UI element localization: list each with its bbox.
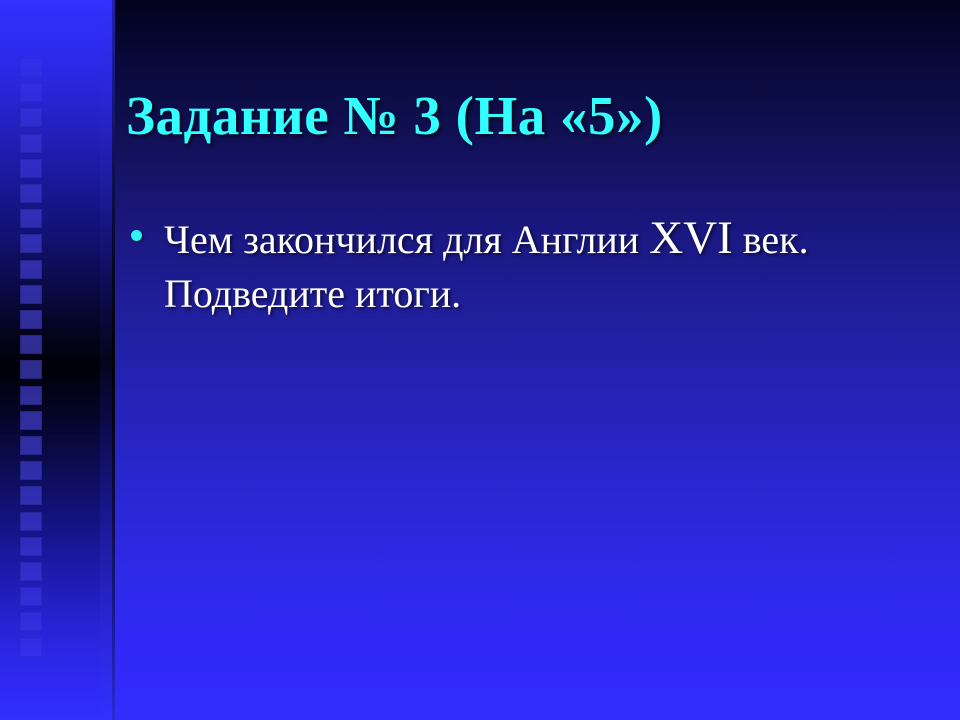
sidebar-square	[20, 285, 42, 304]
sidebar-square	[20, 612, 42, 631]
sidebar-square	[20, 234, 42, 253]
bullet-text-roman-numeral: XVI	[649, 212, 733, 264]
sidebar-square	[20, 562, 42, 581]
sidebar-square	[20, 411, 42, 430]
sidebar-square	[20, 360, 42, 379]
list-item: Чем закончился для Англии XVI век. Подве…	[126, 208, 916, 319]
sidebar-square	[20, 638, 42, 657]
bullet-point-icon	[131, 230, 142, 241]
sidebar-square	[20, 184, 42, 203]
sidebar-square	[20, 512, 42, 531]
sidebar-square	[20, 83, 42, 102]
sidebar-square	[20, 436, 42, 455]
sidebar-square	[20, 159, 42, 178]
sidebar-decoration	[0, 0, 115, 720]
sidebar-square	[20, 461, 42, 480]
sidebar-square	[20, 58, 42, 77]
sidebar-square	[20, 209, 42, 228]
bullet-text-segment-1: Чем закончился для Англии	[164, 217, 649, 262]
sidebar-square	[20, 108, 42, 127]
bullet-item-text: Чем закончился для Англии XVI век. Подве…	[164, 208, 916, 319]
presentation-slide: Задание № 3 (На «5») Чем закончился для …	[0, 0, 960, 720]
sidebar-square	[20, 310, 42, 329]
sidebar-square-column	[0, 0, 115, 720]
sidebar-square	[20, 260, 42, 279]
bullet-text-line-2: Подведите итоги.	[164, 271, 461, 316]
sidebar-square	[20, 587, 42, 606]
slide-body: Чем закончился для Англии XVI век. Подве…	[126, 208, 916, 319]
sidebar-square	[20, 335, 42, 354]
sidebar-square	[20, 537, 42, 556]
slide-title: Задание № 3 (На «5»)	[126, 87, 916, 145]
bullet-text-segment-2: век.	[733, 217, 809, 262]
sidebar-square	[20, 386, 42, 405]
sidebar-square	[20, 486, 42, 505]
sidebar-square	[20, 134, 42, 153]
